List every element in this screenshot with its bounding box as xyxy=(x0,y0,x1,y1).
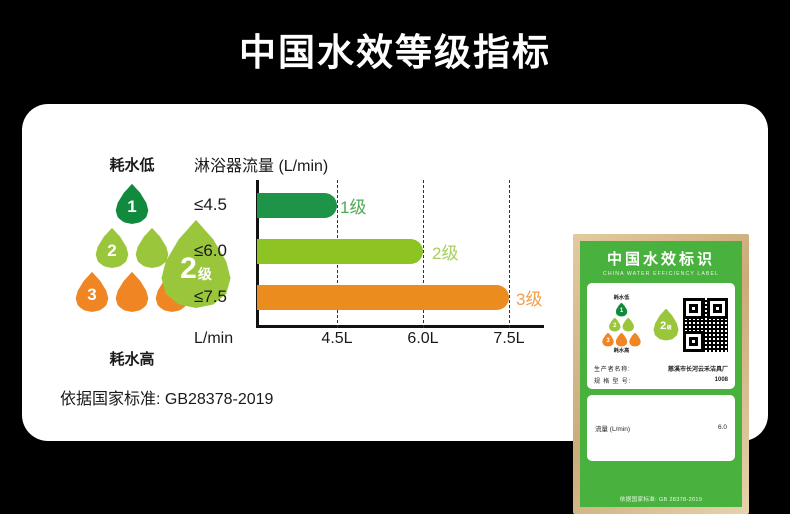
shower-flow-bar-chart: 淋浴器流量 (L/min) ≤4.5 1级 ≤6.0 2级 ≤7.5 3级 xyxy=(194,152,544,367)
water-drop-icon: 2 xyxy=(609,318,621,332)
label-header: 中国水效标识 CHINA WATER EFFICIENCY LABEL xyxy=(587,248,735,277)
label-title-en: CHINA WATER EFFICIENCY LABEL xyxy=(587,271,735,277)
water-drop-icon: 3 xyxy=(602,333,614,347)
label-body: 耗水低 1 2 xyxy=(587,283,735,389)
mini-drop-row-3: 3 xyxy=(594,333,649,347)
drop-row-grade-1: 1 xyxy=(52,184,212,224)
drop-grade-number: 1 xyxy=(127,198,136,215)
mini-pyramid: 耗水低 1 2 xyxy=(594,295,649,353)
mini-grade-suffix: 级 xyxy=(667,324,672,331)
category-label: ≤4.5 xyxy=(194,190,252,220)
national-standard-note: 依据国家标准: GB28378-2019 xyxy=(60,385,273,409)
chart-plot-area: ≤4.5 1级 ≤6.0 2级 ≤7.5 3级 xyxy=(194,180,544,328)
x-axis-ticks: L/min 4.5L 6.0L 7.5L xyxy=(194,330,544,354)
flow-rate-row: 流量 (L/min) 6.0 xyxy=(587,395,735,461)
water-efficiency-label-frame: 中国水效标识 CHINA WATER EFFICIENCY LABEL 耗水低 … xyxy=(573,234,749,514)
bar-row-grade-3: ≤7.5 3级 xyxy=(194,282,544,312)
highlight-grade-label: 2 级 xyxy=(180,254,212,284)
mini-low-label: 耗水低 xyxy=(594,295,649,301)
mini-drop-rows: 1 2 xyxy=(594,303,649,347)
mini-drop-row-2: 2 xyxy=(594,318,649,332)
page-title: 中国水效等级指标 xyxy=(0,22,790,76)
water-drop-icon: 3 xyxy=(75,272,109,312)
label-visual-row: 耗水低 1 2 xyxy=(594,289,728,361)
water-drop-icon: 1 xyxy=(616,303,628,317)
category-label: ≤7.5 xyxy=(194,282,252,312)
water-drop-icon xyxy=(616,333,628,347)
high-consumption-label: 耗水高 xyxy=(52,348,212,369)
x-tick-4.5: 4.5L xyxy=(321,330,352,348)
mini-highlight-label: 2 级 xyxy=(660,321,672,332)
flow-rate-key: 流量 (L/min) xyxy=(595,423,630,433)
bar-label-grade-3: 3级 xyxy=(516,282,542,312)
bar-row-grade-1: ≤4.5 1级 xyxy=(194,190,544,220)
low-consumption-label: 耗水低 xyxy=(52,154,212,175)
highlight-grade-suffix: 级 xyxy=(198,267,212,281)
content-card: 耗水低 1 2 3 xyxy=(22,104,768,441)
drop-shape xyxy=(622,318,634,332)
bar-label-grade-1: 1级 xyxy=(340,190,366,220)
x-tick-7.5: 7.5L xyxy=(493,330,524,348)
water-drop-icon: 2 xyxy=(95,228,129,268)
water-drop-icon xyxy=(629,333,641,347)
model-row: 规 格 型 号: 1008 xyxy=(594,376,728,385)
chart-title: 淋浴器流量 (L/min) xyxy=(194,152,328,176)
drop-grade-number: 1 xyxy=(620,308,623,314)
drop-shape xyxy=(629,333,641,347)
drop-grade-number: 3 xyxy=(87,286,96,303)
label-footer-standard: 依据国家标准: GB 28378-2019 xyxy=(580,495,742,503)
bar-grade-1 xyxy=(257,193,337,218)
drop-grade-number: 3 xyxy=(606,338,609,344)
model-value: 1008 xyxy=(715,377,728,383)
label-title-cn: 中国水效标识 xyxy=(587,252,735,269)
mini-highlight-drop-icon: 2 级 xyxy=(653,309,679,341)
bar-grade-3 xyxy=(257,285,509,310)
x-axis-line xyxy=(256,325,544,328)
flow-rate-value: 6.0 xyxy=(718,424,727,431)
water-drop-icon xyxy=(115,272,149,312)
drop-shape xyxy=(616,333,628,347)
manufacturer-value: 慈溪市长河云禾洁具厂 xyxy=(668,364,728,373)
drop-shape xyxy=(115,272,149,312)
bar-grade-2 xyxy=(257,239,423,264)
water-consumption-pyramid: 耗水低 1 2 3 xyxy=(52,154,212,369)
drop-grade-number: 2 xyxy=(613,323,616,329)
water-drop-icon xyxy=(622,318,634,332)
x-tick-6.0: 6.0L xyxy=(407,330,438,348)
model-key: 规 格 型 号: xyxy=(594,376,631,385)
qr-code-icon[interactable] xyxy=(683,298,728,352)
water-drop-icon: 1 xyxy=(115,184,149,224)
mini-high-label: 耗水高 xyxy=(594,348,649,354)
drop-grade-number: 2 xyxy=(107,242,116,259)
manufacturer-key: 生产者名称: xyxy=(594,364,630,373)
water-efficiency-label: 中国水效标识 CHINA WATER EFFICIENCY LABEL 耗水低 … xyxy=(580,241,742,507)
x-axis-unit-label: L/min xyxy=(194,330,233,348)
bar-row-grade-2: ≤6.0 2级 xyxy=(194,236,544,266)
highlight-grade-number: 2 xyxy=(180,254,197,284)
manufacturer-row: 生产者名称: 慈溪市长河云禾洁具厂 xyxy=(594,364,728,373)
mini-drop-row-1: 1 xyxy=(594,303,649,317)
mini-grade-number: 2 xyxy=(660,321,666,332)
qr-finder-bottom-left xyxy=(683,331,704,352)
bar-label-grade-2: 2级 xyxy=(432,236,458,266)
